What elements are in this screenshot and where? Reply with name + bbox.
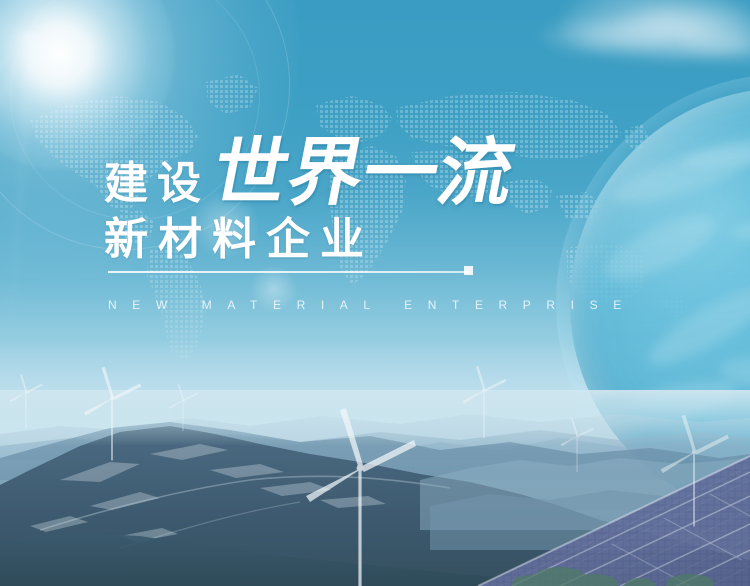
wind-turbine	[462, 366, 506, 438]
wind-turbine	[661, 415, 729, 527]
wind-turbine	[306, 408, 416, 586]
wind-turbine-group	[0, 0, 750, 586]
wind-turbine	[169, 384, 198, 431]
wind-turbine	[10, 374, 43, 428]
wind-turbine	[84, 367, 141, 461]
hero-banner: 建设 世界一流 新材料企业 NEW MATERIAL ENTERPRISE	[0, 0, 750, 586]
wind-turbine	[561, 418, 594, 472]
